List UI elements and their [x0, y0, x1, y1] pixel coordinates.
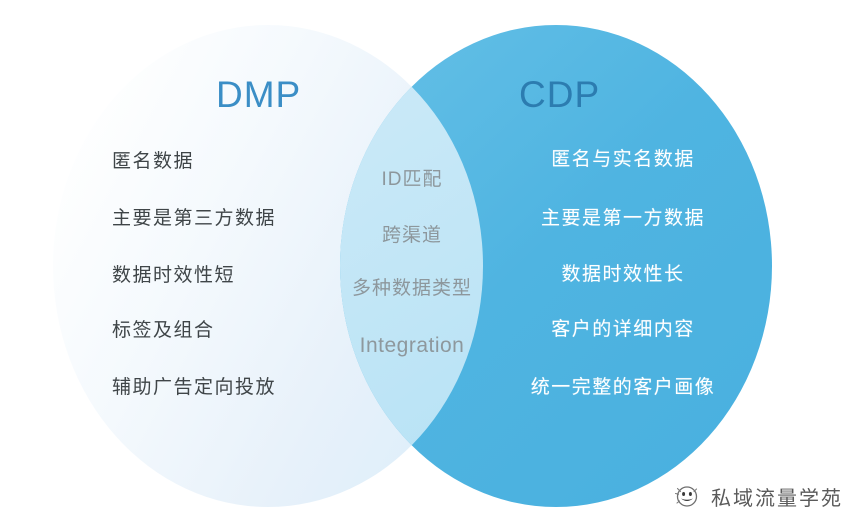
left-item: 辅助广告定向投放: [112, 378, 276, 397]
left-item: 标签及组合: [112, 321, 215, 340]
venn-diagram: DMP CDP 匿名数据 主要是第三方数据 数据时效性短 标签及组合 辅助广告定…: [0, 0, 864, 529]
right-item: 统一完整的客户画像: [473, 378, 773, 397]
left-circle-title: DMP: [216, 74, 301, 116]
left-item: 数据时效性短: [112, 266, 235, 285]
right-item: 客户的详细内容: [473, 320, 773, 339]
left-item: 主要是第三方数据: [112, 209, 276, 228]
right-circle-title: CDP: [519, 74, 600, 116]
left-item: 匿名数据: [112, 152, 194, 171]
overlap-item: 跨渠道: [312, 226, 512, 245]
smiley-face-icon: [672, 481, 702, 511]
overlap-item: ID匹配: [312, 170, 512, 189]
right-item: 匿名与实名数据: [473, 150, 773, 169]
watermark: 私域流量学苑: [672, 479, 843, 513]
watermark-label: 私域流量学苑: [711, 482, 843, 511]
right-item: 主要是第一方数据: [473, 209, 773, 228]
right-item: 数据时效性长: [473, 265, 773, 284]
